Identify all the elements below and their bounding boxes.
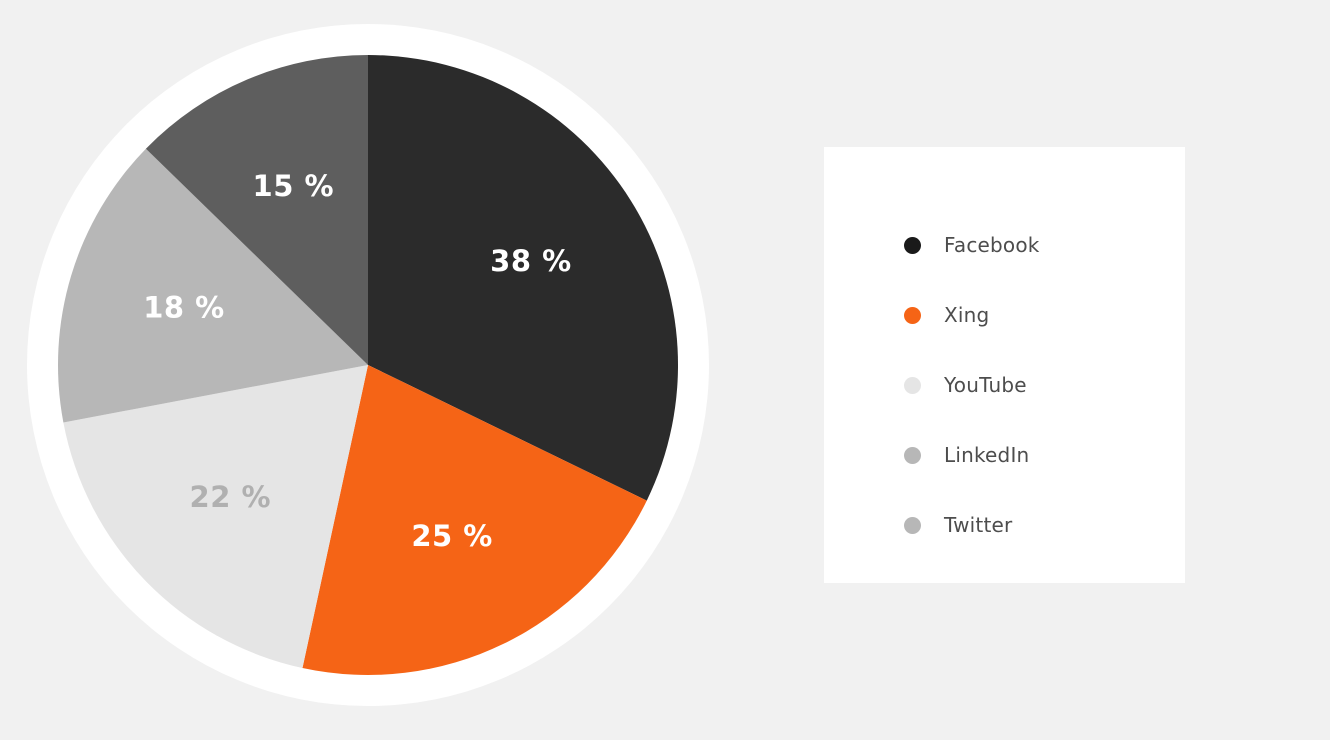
legend-item-label: LinkedIn	[944, 443, 1029, 467]
legend-color-dot-icon	[904, 307, 921, 324]
pie-slice-value-label: 15 %	[253, 169, 335, 203]
legend-item-label: Twitter	[944, 513, 1012, 537]
chart-page: 38 %25 %22 %18 %15 % FacebookXingYouTube…	[0, 0, 1330, 740]
pie-slice-group	[58, 55, 678, 675]
pie-slice-value-label: 25 %	[411, 519, 493, 553]
legend-item[interactable]: Xing	[904, 280, 1164, 350]
legend-item-label: Facebook	[944, 233, 1040, 257]
legend-color-dot-icon	[904, 237, 921, 254]
legend-panel: FacebookXingYouTubeLinkedInTwitter	[824, 147, 1185, 583]
pie-slice-value-label: 18 %	[143, 291, 225, 325]
pie-slice-value-label: 38 %	[490, 244, 572, 278]
pie-slice-value-label: 22 %	[190, 480, 272, 514]
pie-chart-svg: 38 %25 %22 %18 %15 %	[0, 0, 760, 740]
legend-item-label: YouTube	[944, 373, 1027, 397]
legend-item[interactable]: Facebook	[904, 210, 1164, 280]
pie-chart-area: 38 %25 %22 %18 %15 %	[0, 0, 760, 740]
legend-item[interactable]: LinkedIn	[904, 420, 1164, 490]
legend-color-dot-icon	[904, 447, 921, 464]
legend-item-label: Xing	[944, 303, 989, 327]
legend-color-dot-icon	[904, 377, 921, 394]
legend-item[interactable]: Twitter	[904, 490, 1164, 560]
legend-color-dot-icon	[904, 517, 921, 534]
legend-item[interactable]: YouTube	[904, 350, 1164, 420]
legend-list: FacebookXingYouTubeLinkedInTwitter	[904, 210, 1164, 560]
